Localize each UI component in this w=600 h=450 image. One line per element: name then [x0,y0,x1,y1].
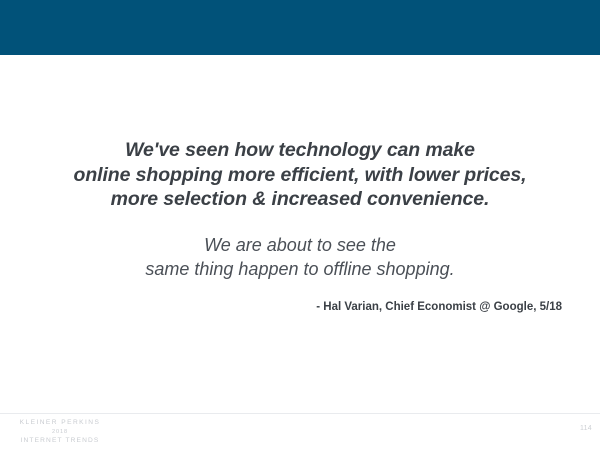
kleiner-perkins-logo: KLEINER PERKINS 2018 INTERNET TRENDS [10,419,110,445]
quote-secondary: We are about to see the same thing happe… [0,233,600,281]
logo-line-report: INTERNET TRENDS [10,437,110,445]
quote-secondary-line-2: same thing happen to offline shopping. [0,257,600,281]
quote-primary-line-1: We've seen how technology can make [0,138,600,163]
logo-line-company: KLEINER PERKINS [10,419,110,427]
top-banner [0,0,600,55]
quote-secondary-line-1: We are about to see the [0,233,600,257]
slide-canvas: We've seen how technology can make onlin… [0,0,600,450]
slide-content: We've seen how technology can make onlin… [0,55,600,413]
quote-primary: We've seen how technology can make onlin… [0,138,600,212]
quote-primary-line-2: online shopping more efficient, with low… [0,163,600,188]
page-number: 114 [580,425,592,432]
quote-primary-line-3: more selection & increased convenience. [0,187,600,212]
logo-line-year: 2018 [10,428,110,436]
footer-divider [0,413,600,414]
quote-attribution: - Hal Varian, Chief Economist @ Google, … [0,301,562,313]
